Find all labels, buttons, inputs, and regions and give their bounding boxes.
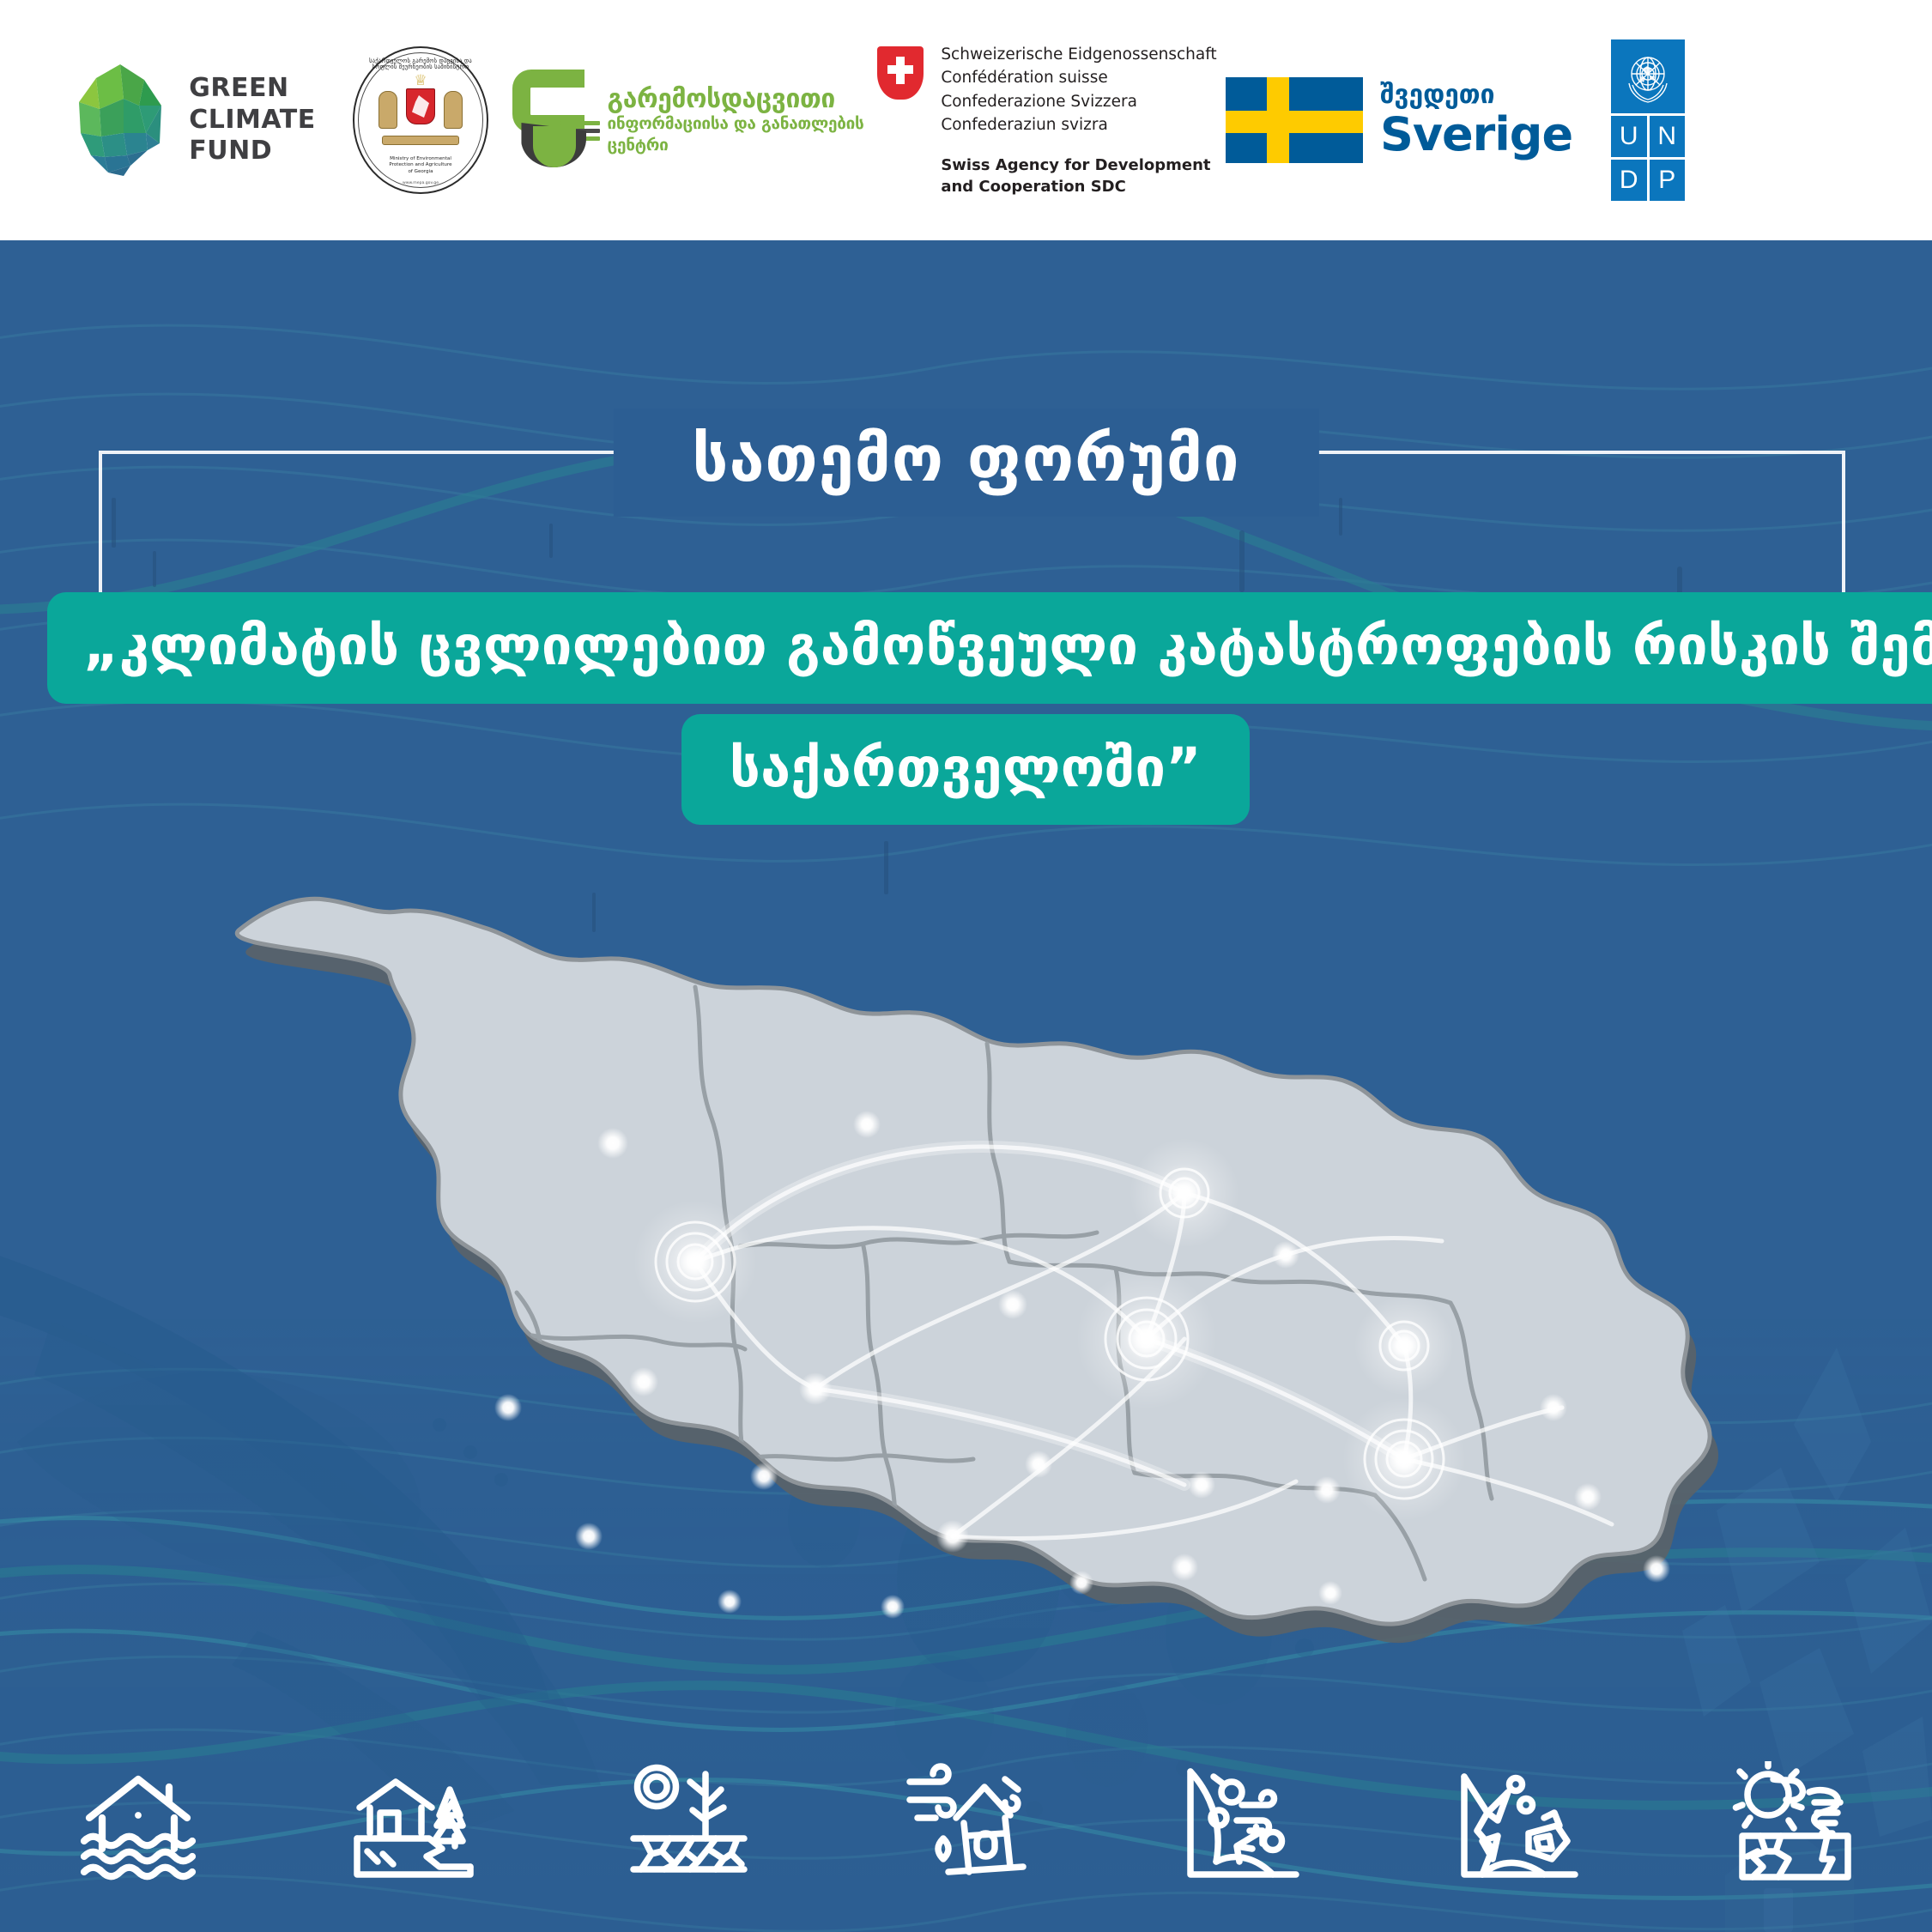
sdc-agency-name: Swiss Agency for Development and Coopera… [941,155,1216,197]
seal-ribbon [382,136,459,145]
gcf-line-3: FUND [189,136,316,167]
logo-sweden-sverige: შვედეთი Sverige [1227,0,1571,240]
polygonal-globe-icon [70,61,170,179]
gcf-line-1: GREEN [189,73,316,105]
sweden-flag-icon [1226,77,1363,163]
eiec-line-3: ცენტრი [607,136,863,154]
logo-green-climate-fund: GREEN CLIMATE FUND [51,0,335,240]
eyebrow-text: სათემო ფორუმი [692,427,1239,491]
headline-line-2: საქართველოში” [681,714,1250,826]
poster-canvas: GREEN CLIMATE FUND საქართველოს გარემოს დ… [0,0,1932,1932]
undp-letter-d: D [1611,160,1647,201]
gcf-wordmark: GREEN CLIMATE FUND [189,73,316,167]
lion-right-icon [444,91,463,129]
sweden-name-en: Sverige [1380,112,1572,158]
eyebrow-badge: სათემო ფორუმი [613,409,1318,517]
swiss-shield-cross-icon [877,46,924,100]
hazard-icon-cell-windstorm [828,1761,1105,1890]
hazard-icon-cell-avalanche [1104,1761,1380,1890]
gcf-line-2: CLIMATE [189,105,316,136]
logo-environmental-information-education-centre: გარემოსდაცვითი ინფორმაციისა და განათლები… [506,0,867,240]
swiss-confederation-names: Schweizerische Eidgenossenschaft Confédé… [941,43,1216,137]
crown-icon: ♕ [414,72,427,89]
green-book-leaf-icon [509,70,595,171]
hazard-icon-row [0,1748,1932,1903]
seal-caption-ka: საქართველოს გარემოს დაცვისა და სოფლის მე… [353,58,488,72]
map-of-georgia [215,858,1742,1674]
st-george-shield-icon [406,88,435,124]
georgia-state-seal-icon: საქართველოს გარემოს დაცვისა და სოფლის მე… [353,46,488,194]
hazard-icon-cell-flood [0,1761,276,1890]
hazard-icon-cell-rockfall [1380,1761,1656,1890]
windstorm-icon [902,1761,1031,1890]
landslide-house-icon [349,1761,478,1890]
logo-ministry-of-environment-georgia: საქართველოს გარემოს დაცვისა და სოფლის მე… [335,0,506,240]
lion-left-icon [379,91,397,129]
drought-icon [626,1761,754,1890]
sweden-name-ka: შვედეთი [1380,82,1572,108]
logo-undp: U N D P [1571,0,1725,240]
logo-swiss-agency-development-cooperation: Schweizerische Eidgenossenschaft Confédé… [867,0,1227,240]
avalanche-icon [1178,1761,1306,1890]
undp-letter-u: U [1611,116,1647,157]
seal-url: www.mepa.gov.ge [353,181,488,185]
undp-letter-p: P [1650,160,1686,201]
hazard-icon-cell-drought [552,1761,828,1890]
eiec-line-1: გარემოსდაცვითი [607,86,863,113]
flood-icon [74,1761,203,1890]
undp-letters-row-1: U N [1611,116,1685,157]
hazard-icon-cell-landslide-house [276,1761,553,1890]
headline-block: „კლიმატის ცვლილებით გამოწვეული კატასტროფ… [47,592,1884,825]
eiec-line-2: ინფორმაციისა და განათლების [607,115,863,133]
headline-line-1: „კლიმატის ცვლილებით გამოწვეული კატასტროფ… [47,592,1932,704]
partner-logo-bar: GREEN CLIMATE FUND საქართველოს გარემოს დ… [0,0,1932,240]
undp-letters-row-2: D P [1611,160,1685,201]
rockfall-icon [1454,1761,1583,1890]
multi-hazard-icon [1729,1761,1858,1890]
undp-letter-n: N [1650,116,1686,157]
un-emblem-icon [1611,39,1685,113]
hazard-icon-cell-multi-hazard [1656,1761,1932,1890]
seal-caption-en: Ministry of Environmental Protection and… [353,156,488,175]
